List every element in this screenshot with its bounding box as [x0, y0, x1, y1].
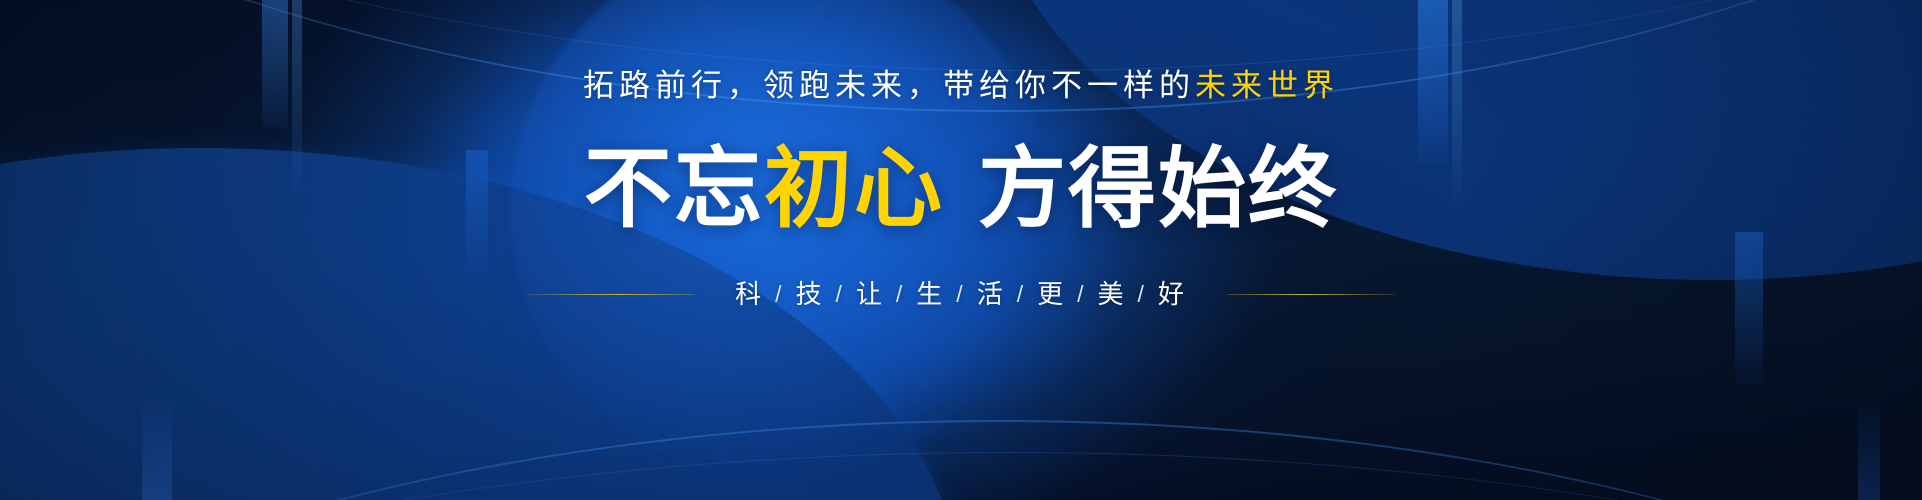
hero-banner: 拓路前行，领跑未来，带给你不一样的未来世界 不忘初心方得始终 科/技/让/生/活… — [0, 0, 1922, 500]
tagline-char: 好 — [1158, 281, 1187, 307]
tagline-char: 生 — [916, 281, 945, 307]
banner-tagline: 科/技/让/生/活/更/美/好 — [735, 281, 1187, 307]
tagline-separator-icon: / — [835, 283, 844, 306]
tagline-separator-icon: / — [1138, 283, 1147, 306]
banner-headline: 不忘初心方得始终 — [584, 145, 1338, 233]
headline-part-3: 方得始终 — [978, 139, 1338, 238]
headline-part-1: 不忘 — [584, 139, 764, 238]
tagline-char: 让 — [856, 281, 885, 307]
tagline-rule-right — [1227, 294, 1395, 295]
tagline-separator-icon: / — [896, 283, 905, 306]
banner-content: 拓路前行，领跑未来，带给你不一样的未来世界 不忘初心方得始终 科/技/让/生/活… — [0, 0, 1922, 500]
subtitle-accent-text: 未来世界 — [1195, 68, 1339, 103]
tagline-separator-icon: / — [1077, 283, 1086, 306]
tagline-char: 更 — [1037, 281, 1066, 307]
tagline-rule-left — [527, 294, 695, 295]
tagline-separator-icon: / — [775, 283, 784, 306]
subtitle-plain-text: 拓路前行，领跑未来，带给你不一样的 — [583, 68, 1195, 103]
headline-part-2-accent: 初心 — [764, 139, 944, 238]
tagline-char: 活 — [977, 281, 1006, 307]
tagline-separator-icon: / — [1017, 283, 1026, 306]
tagline-char: 科 — [735, 281, 764, 307]
tagline-char: 美 — [1098, 281, 1127, 307]
banner-tagline-row: 科/技/让/生/活/更/美/好 — [527, 281, 1395, 307]
tagline-char: 技 — [795, 281, 824, 307]
banner-subtitle: 拓路前行，领跑未来，带给你不一样的未来世界 — [583, 70, 1339, 101]
tagline-separator-icon: / — [956, 283, 965, 306]
